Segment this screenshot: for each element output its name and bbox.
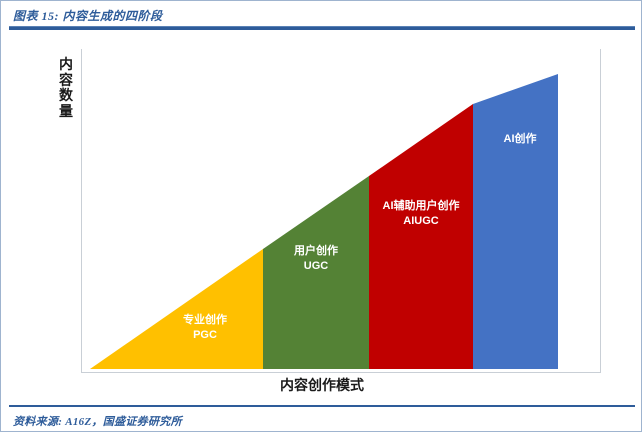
- x-axis-title: 内容创作模式: [1, 375, 642, 395]
- figure-title: 图表 15: 内容生成的四阶段: [13, 7, 163, 24]
- segment-label-aiugc: AI辅助用户创作 AIUGC: [367, 199, 475, 229]
- y-axis-title: 内容数量: [55, 57, 77, 120]
- segment-label-aiugc-line2: AIUGC: [367, 214, 475, 229]
- segment-label-ugc-line1: 用户创作: [294, 245, 338, 257]
- segment-label-aiugc-line1: AI辅助用户创作: [383, 200, 460, 212]
- segment-label-ai-line1: AI创作: [504, 133, 537, 145]
- source-divider: [9, 405, 635, 407]
- figure-container: 图表 15: 内容生成的四阶段 内容数量 专业创作 PGC 用户创作 UGC A…: [0, 0, 642, 432]
- title-divider: [9, 26, 635, 30]
- segment-label-ai: AI创作: [475, 132, 565, 147]
- segment-label-pgc: 专业创作 PGC: [151, 313, 259, 343]
- segment-label-ugc-line2: UGC: [266, 259, 366, 274]
- segment-label-pgc-line1: 专业创作: [183, 314, 227, 326]
- figure-source: 资料来源: A16Z，国盛证券研究所: [13, 413, 182, 429]
- segment-label-pgc-line2: PGC: [151, 328, 259, 343]
- segment-label-ugc: 用户创作 UGC: [266, 244, 366, 274]
